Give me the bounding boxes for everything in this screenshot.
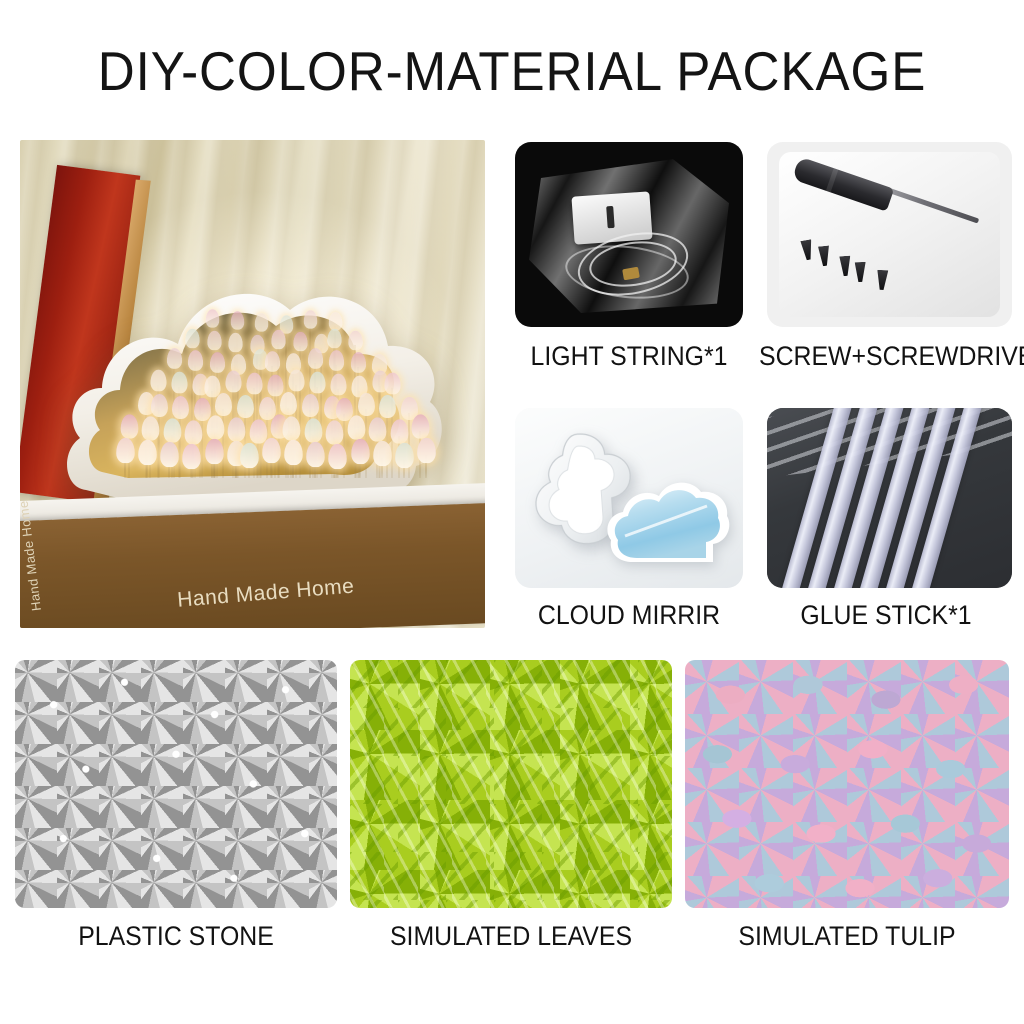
tulip-flower	[358, 393, 375, 416]
simulated-leaves-image[interactable]	[350, 660, 672, 908]
simulated-tulip-label: SIMULATED TULIP	[698, 921, 996, 951]
tulip-stem	[179, 412, 181, 478]
tulip-flower	[225, 371, 241, 393]
tulip-flower	[249, 419, 267, 443]
tulip-flower	[172, 396, 189, 419]
box-brand-text: Hand Made Home	[135, 571, 396, 616]
tulip-flower	[304, 310, 318, 328]
tulip-flower	[204, 376, 220, 398]
tulip-stem	[201, 414, 203, 478]
tulip-flower	[150, 370, 166, 392]
stone-texture	[15, 660, 337, 908]
light-string-image[interactable]	[515, 142, 743, 327]
tulip-flower	[267, 375, 283, 397]
tulip-flower	[188, 350, 203, 371]
tulip-flower	[210, 352, 225, 373]
tulip-flower	[293, 332, 307, 352]
plastic-stone-label: PLASTIC STONE	[28, 921, 324, 951]
tulip-flower	[329, 350, 344, 371]
tulip-flower	[230, 311, 244, 329]
tulip-flower	[330, 374, 346, 396]
light-string-label: LIGHT STRING*1	[507, 341, 752, 371]
tulip-flower	[171, 372, 187, 394]
tulip-flower	[350, 352, 365, 373]
cloud-mirror-image[interactable]	[515, 408, 743, 588]
tulip-flower	[206, 309, 220, 327]
tulip-stem	[343, 414, 345, 478]
hero-product-image[interactable]: Hand Made Home Hand Made Home	[20, 140, 485, 628]
tulip-flower	[160, 442, 179, 467]
tulip-flower	[185, 420, 203, 444]
tulip-flower	[327, 329, 341, 349]
cloud-mirror-label: CLOUD MIRRIR	[507, 600, 752, 630]
glue-stick-label: GLUE STICK*1	[759, 600, 1013, 630]
tulip-flower	[412, 414, 430, 438]
leaves-texture	[350, 660, 672, 908]
tulip-flower	[347, 415, 365, 439]
tulip-flower	[228, 333, 242, 353]
tulip-stem	[222, 409, 224, 478]
tulip-flower	[326, 420, 344, 444]
tulip-flower	[228, 417, 246, 441]
simulated-tulip-image[interactable]	[685, 660, 1009, 908]
tulip-flower	[284, 440, 303, 465]
tulip-flower	[417, 438, 436, 463]
tulip-flower	[373, 441, 392, 466]
simulated-leaves-label: SIMULATED LEAVES	[363, 921, 659, 951]
tulip-flower	[280, 392, 297, 415]
tulip-flower	[185, 329, 199, 349]
tulip-flower	[121, 414, 139, 438]
tulip-stem	[158, 410, 160, 478]
tulip-flower	[255, 313, 269, 331]
screw-screwdriver-label: SCREW+SCREWDRIVER	[759, 341, 1013, 371]
tulip-flower	[271, 330, 285, 350]
packaging-box: Hand Made Home	[20, 502, 485, 628]
tulip-flower	[194, 398, 211, 421]
tulip-flower	[237, 395, 254, 418]
plastic-stone-image[interactable]	[15, 660, 337, 908]
tulip-flower	[205, 439, 224, 464]
tulip-flower	[163, 418, 181, 442]
tulip-flower	[395, 443, 414, 468]
tulip-flower	[265, 351, 280, 372]
tulip-flower	[116, 438, 135, 463]
tulip-flower	[369, 417, 387, 441]
tulip-flower	[351, 439, 370, 464]
glue-stick-image[interactable]	[767, 408, 1012, 588]
tulip-flower	[304, 418, 322, 442]
tulip-flower	[262, 438, 281, 463]
tulip-flower	[246, 373, 262, 395]
tulip-flower	[206, 415, 224, 439]
tulip-flower	[348, 331, 362, 351]
tulip-flower	[207, 331, 221, 351]
tulip-flower	[308, 348, 323, 369]
tulip-flower	[138, 440, 157, 465]
tulip-flower	[302, 394, 319, 417]
page-title: DIY-COLOR-MATERIAL PACKAGE	[36, 40, 988, 102]
tulip-flower	[240, 443, 259, 468]
screw-screwdriver-image[interactable]	[767, 142, 1012, 327]
tulip-flower	[379, 395, 396, 418]
tulip-flower	[390, 419, 408, 443]
tulip-flower	[215, 393, 232, 416]
tulip-flower	[384, 373, 400, 395]
tulip-flower	[309, 372, 325, 394]
tulip-flower	[288, 370, 304, 392]
tulip-flower	[151, 394, 168, 417]
tulip-flower	[306, 442, 325, 467]
cloud-mirror-icon	[603, 470, 733, 568]
tulip-flower	[167, 348, 182, 369]
tulip-texture	[685, 660, 1009, 908]
